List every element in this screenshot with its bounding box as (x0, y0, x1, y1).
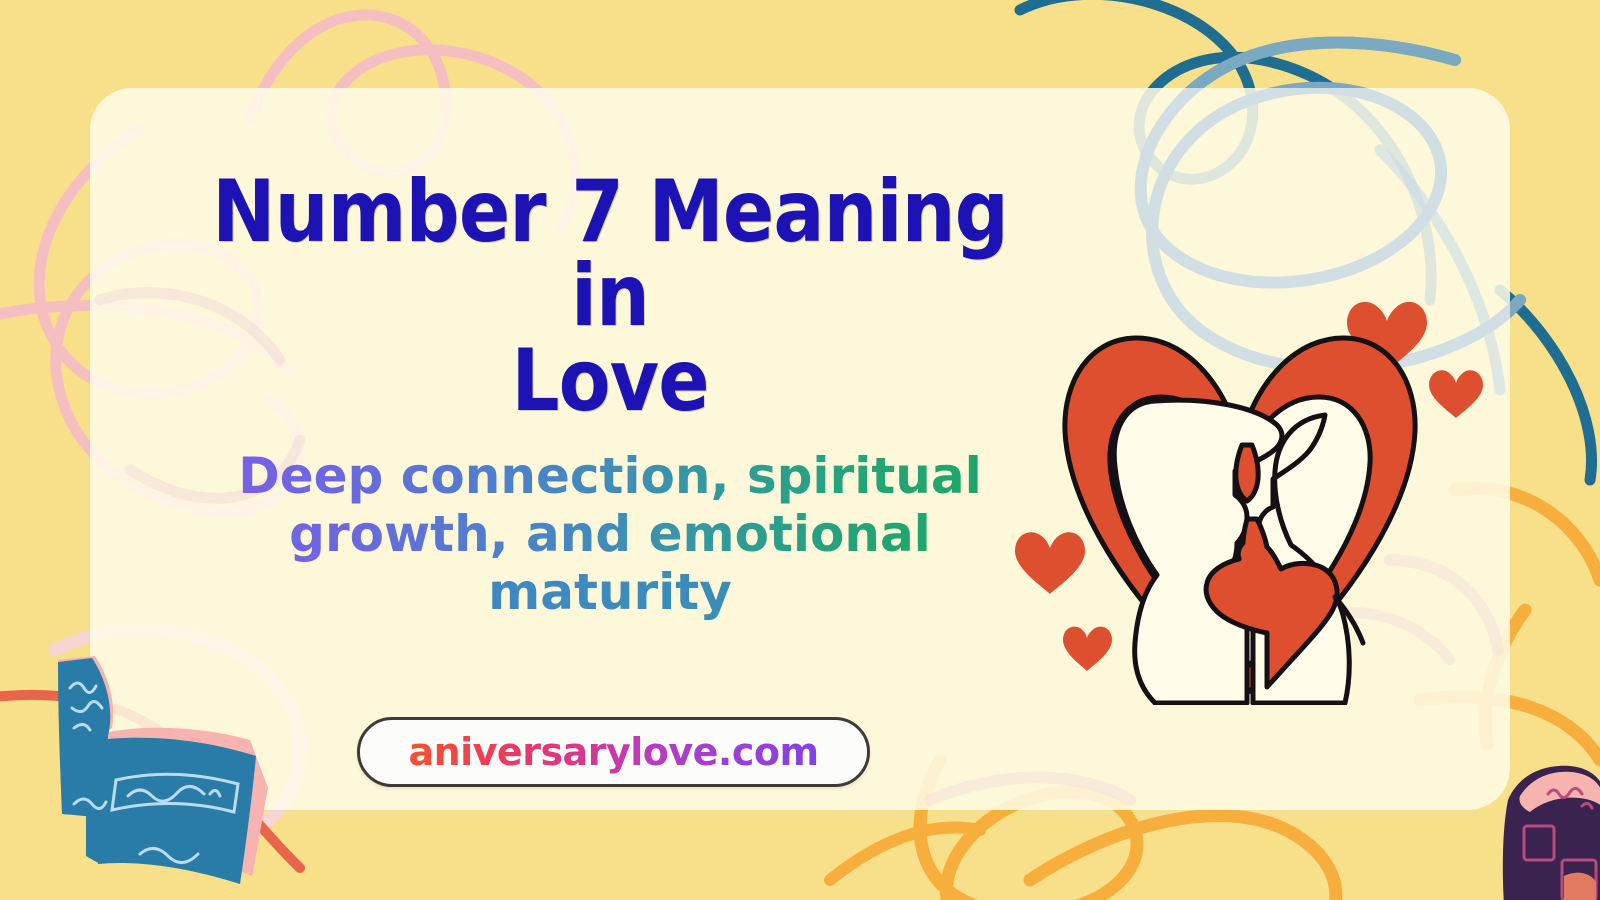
subtitle-line-2: growth, and emotional (200, 505, 1020, 563)
subtitle-line-3: maturity (200, 563, 1020, 621)
title-line-1: Number 7 Meaning in (196, 170, 1023, 339)
floating-heart-right-icon (1429, 370, 1483, 418)
subtitle-line-1: Deep connection, spiritual (200, 447, 1020, 505)
orange-swoop-icon (1030, 816, 1336, 900)
website-url-badge[interactable]: aniversarylove.com (357, 717, 870, 787)
poster-canvas: Number 7 Meaning in Love Deep connection… (0, 0, 1600, 900)
open-book-illustration (0, 628, 300, 900)
teal-tail-right-icon (1500, 290, 1592, 480)
orange-bottom-left-icon (830, 827, 980, 880)
title-line-2: Love (196, 339, 1023, 423)
website-url-text: aniversarylove.com (408, 730, 818, 774)
subtitle: Deep connection, spiritual growth, and e… (200, 447, 1020, 621)
page-title: Number 7 Meaning in Love (140, 170, 1080, 423)
kiss-connector (1236, 445, 1258, 501)
floating-heart-left-icon (1015, 532, 1085, 594)
corner-notebook-illustration (1490, 760, 1600, 900)
floating-heart-bottom-left-icon (1063, 627, 1112, 671)
couple-in-heart-illustration (995, 275, 1485, 705)
notebook-accent (1564, 873, 1596, 900)
